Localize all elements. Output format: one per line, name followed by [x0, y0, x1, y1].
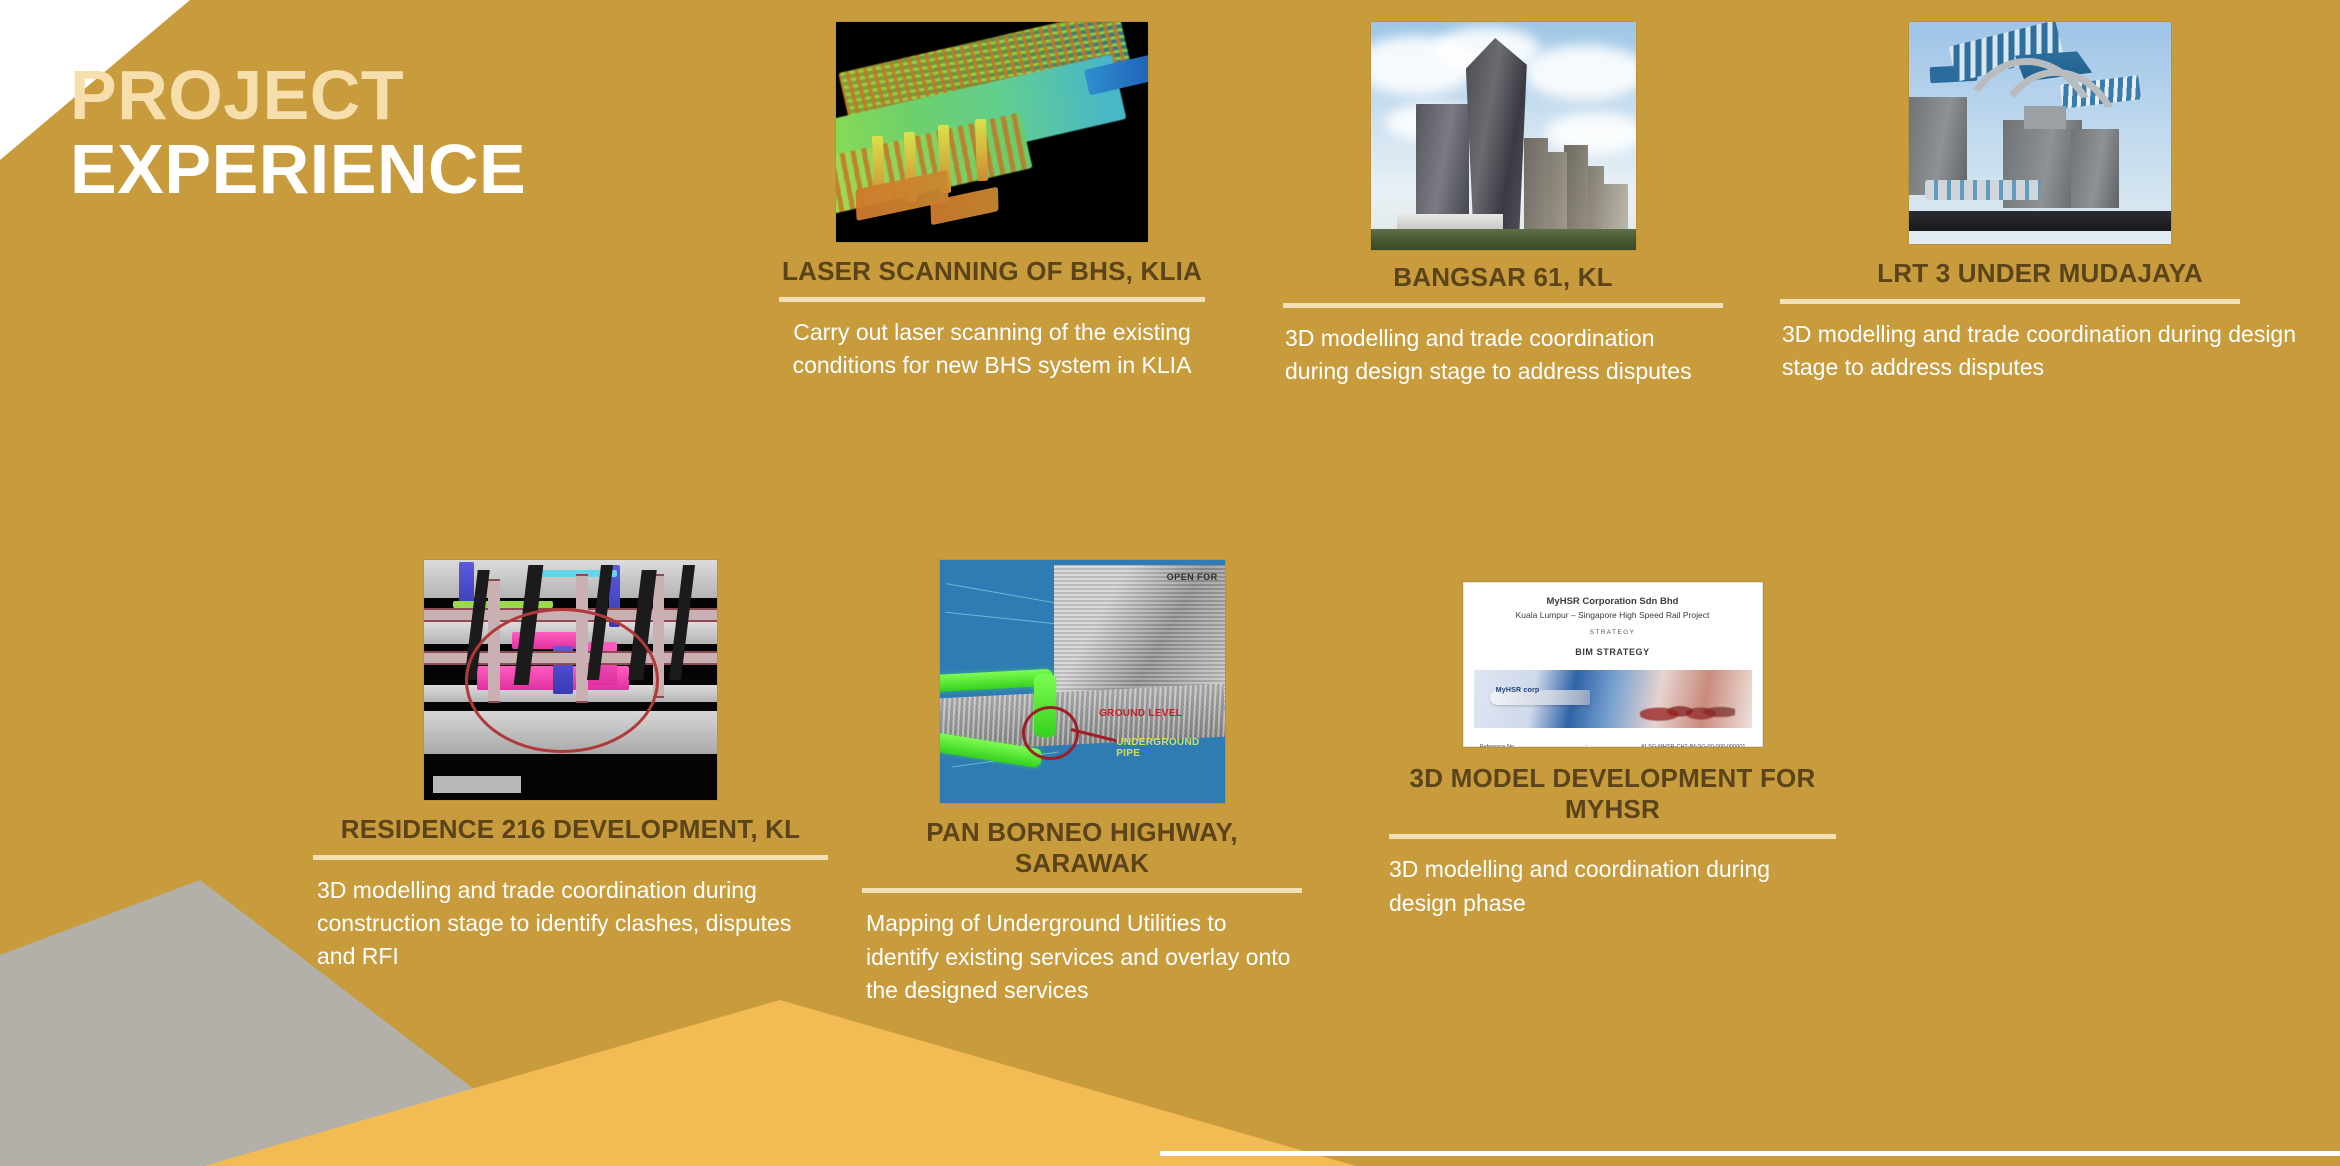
billboard-text: OPEN FOR — [1167, 572, 1218, 582]
project-card-laser-scanning-bhs-klia[interactable]: LASER SCANNING OF BHS, KLIA Carry out la… — [757, 22, 1227, 382]
document-metadata-table: Reference No.:KLSG-MHSR-CH2-IM-SG-00-000… — [1480, 742, 1746, 747]
project-card-bangsar-61-kl[interactable]: BANGSAR 61, KL 3D modelling and trade co… — [1283, 22, 1723, 388]
title-divider — [1283, 303, 1723, 308]
title-divider — [1780, 299, 2240, 304]
project-title: BANGSAR 61, KL — [1283, 262, 1723, 293]
title-divider — [779, 297, 1205, 302]
project-title: PAN BORNEO HIGHWAY, SARAWAK — [862, 817, 1302, 878]
project-description: Mapping of Underground Utilities to iden… — [862, 907, 1302, 1007]
document-metadata-row: Reference No.:KLSG-MHSR-CH2-IM-SG-00-000… — [1480, 742, 1746, 747]
project-description: 3D modelling and trade coordination duri… — [313, 874, 828, 974]
document-type: STRATEGY — [1464, 629, 1762, 636]
metadata-key: Reference No. — [1480, 742, 1586, 747]
metadata-value: KLSG-MHSR-CH2-IM-SG-00-000-000001 — [1602, 742, 1746, 747]
page-title-line-2: EXPERIENCE — [70, 132, 526, 206]
document-banner-image: MyHSR corp — [1474, 670, 1752, 728]
project-title: LASER SCANNING OF BHS, KLIA — [757, 256, 1227, 287]
project-thumbnail-lrt-station — [1909, 22, 2171, 244]
ground-level-label: GROUND LEVEL — [1099, 708, 1182, 719]
project-title: 3D MODEL DEVELOPMENT FOR MYHSR — [1375, 763, 1850, 824]
title-divider — [1389, 834, 1836, 839]
project-thumbnail-skyscraper — [1371, 22, 1636, 250]
project-title: LRT 3 UNDER MUDAJAYA — [1780, 258, 2300, 289]
page-title-line-1: PROJECT — [70, 58, 526, 132]
document-project: Kuala Lumpur – Singapore High Speed Rail… — [1464, 610, 1762, 620]
project-thumbnail-underground-utilities: OPEN FOR GROUND LEVEL UNDERGROUND PIPE — [940, 560, 1225, 803]
document-organisation: MyHSR Corporation Sdn Bhd — [1464, 596, 1762, 607]
project-description: Carry out laser scanning of the existing… — [757, 316, 1227, 383]
project-card-3d-model-myhsr[interactable]: MyHSR Corporation Sdn Bhd Kuala Lumpur –… — [1375, 560, 1850, 920]
document-title: BIM STRATEGY — [1464, 647, 1762, 657]
project-card-lrt3-mudajaya[interactable]: LRT 3 UNDER MUDAJAYA 3D modelling and tr… — [1780, 22, 2300, 384]
project-description: 3D modelling and trade coordination duri… — [1283, 322, 1723, 389]
project-description: 3D modelling and coordination during des… — [1375, 853, 1850, 920]
project-thumbnail-point-cloud — [836, 22, 1148, 242]
page-title: PROJECT EXPERIENCE — [70, 58, 526, 206]
myhsr-logo: MyHSR corp — [1496, 687, 1540, 694]
title-divider — [862, 888, 1302, 893]
slide-canvas: PROJECT EXPERIENCE LASER SCANNING OF BHS… — [0, 0, 2340, 1166]
project-thumbnail-myhsr-document: MyHSR Corporation Sdn Bhd Kuala Lumpur –… — [1463, 582, 1763, 747]
metadata-separator: : — [1586, 742, 1602, 747]
title-divider — [313, 855, 828, 860]
bottom-white-rule — [1160, 1151, 2340, 1156]
project-thumbnail-clash-detection — [424, 560, 717, 800]
project-description: 3D modelling and trade coordination duri… — [1780, 318, 2300, 385]
underground-pipe-label: UNDERGROUND PIPE — [1116, 737, 1224, 759]
project-card-residence-216-kl[interactable]: RESIDENCE 216 DEVELOPMENT, KL 3D modelli… — [313, 560, 828, 974]
project-title: RESIDENCE 216 DEVELOPMENT, KL — [313, 814, 828, 845]
project-card-pan-borneo-highway[interactable]: OPEN FOR GROUND LEVEL UNDERGROUND PIPE P… — [862, 560, 1302, 1007]
